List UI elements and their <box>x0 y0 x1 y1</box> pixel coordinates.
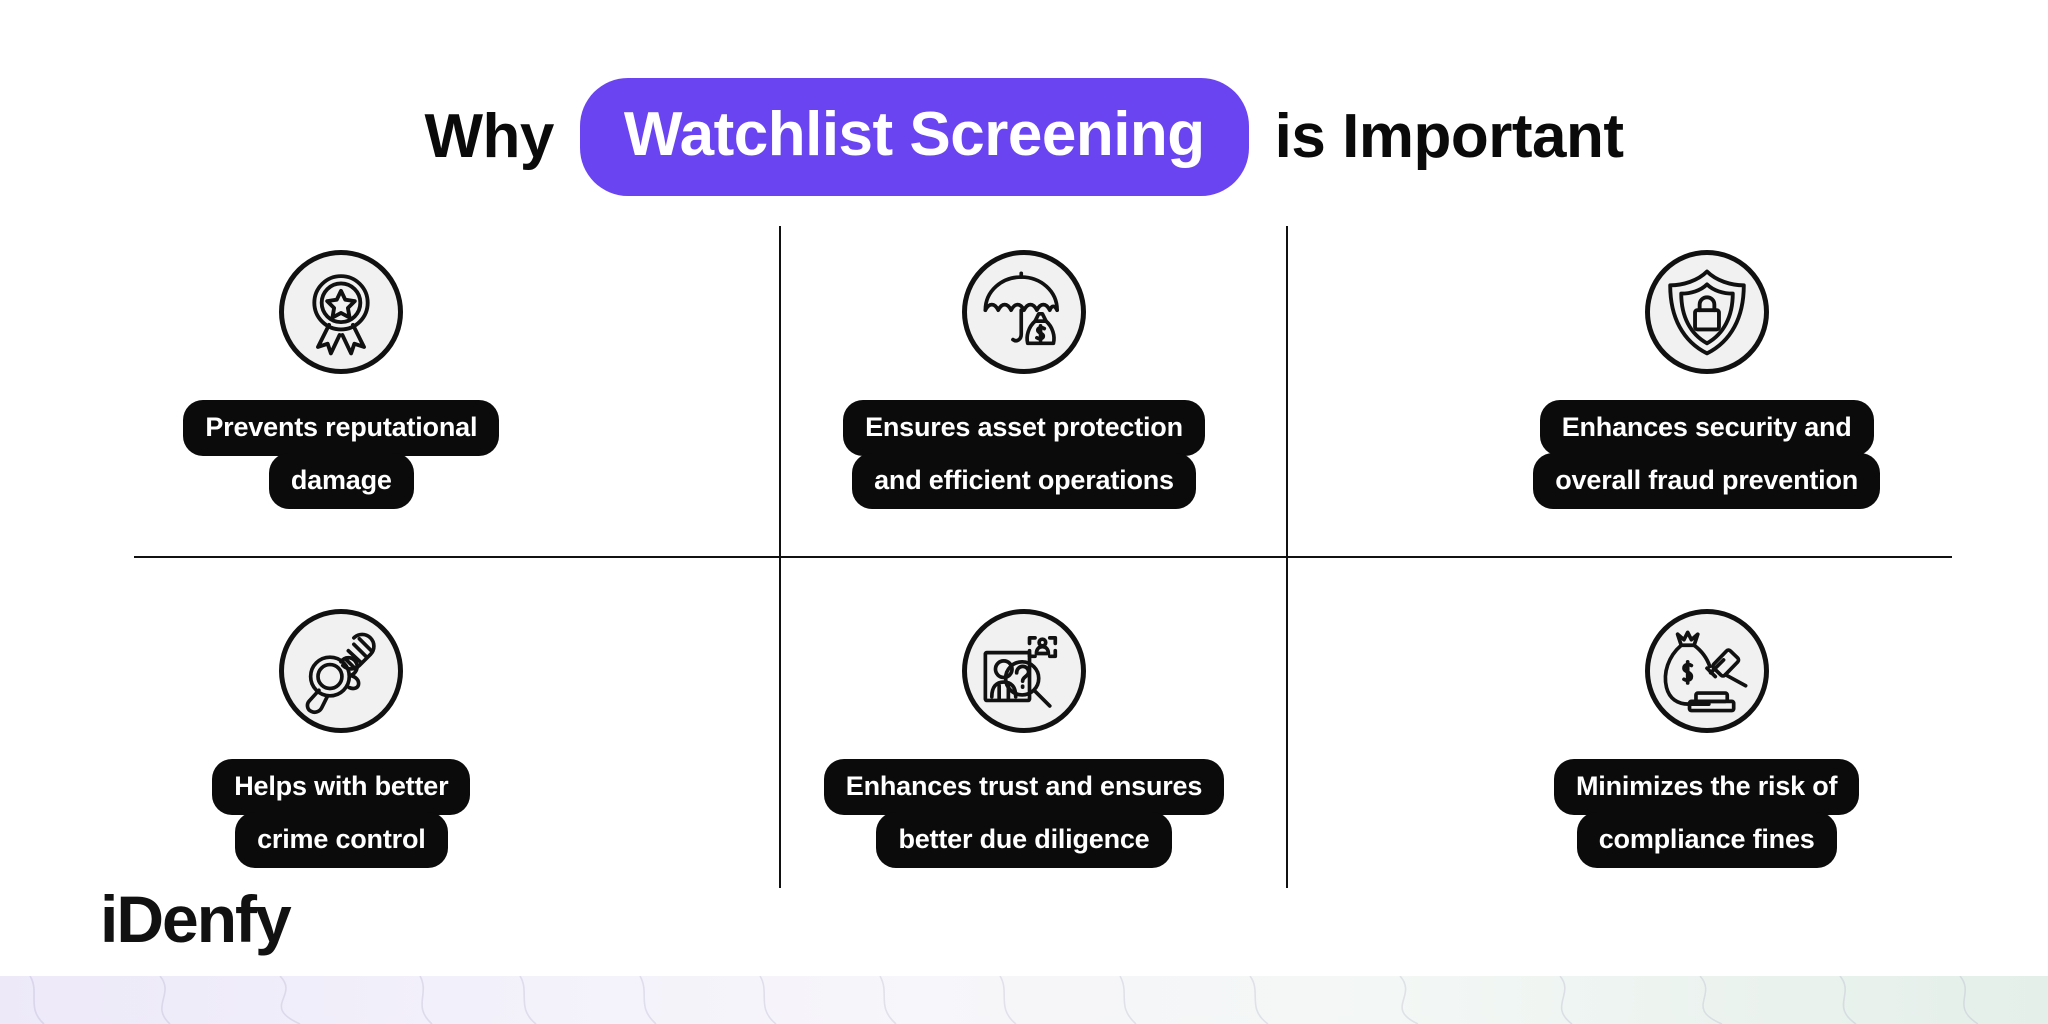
idenfy-logo: iDenfy <box>100 886 290 952</box>
benefit-label-line: and efficient operations <box>852 453 1196 509</box>
benefit-cell-4: Helps with better crime control <box>0 557 683 888</box>
benefit-label-line: Ensures asset protection <box>843 400 1205 456</box>
strip-lines <box>0 976 2048 1024</box>
benefit-cell-2: Ensures asset protection and efficient o… <box>683 226 1366 557</box>
benefit-label-line: Minimizes the risk of <box>1554 759 1859 815</box>
benefit-cell-5: Enhances trust and ensures better due di… <box>683 557 1366 888</box>
benefit-label-2: Ensures asset protection and efficient o… <box>843 400 1205 509</box>
shield-lock-icon <box>1645 250 1769 374</box>
title-highlight-pill: Watchlist Screening <box>580 78 1249 196</box>
title-prefix: Why <box>425 106 580 168</box>
benefit-label-3: Enhances security and overall fraud prev… <box>1533 400 1880 509</box>
bottom-gradient-strip <box>0 976 2048 1024</box>
benefit-label-line: overall fraud prevention <box>1533 453 1880 509</box>
benefit-label-line: crime control <box>235 812 447 868</box>
benefit-label-line: Enhances trust and ensures <box>824 759 1224 815</box>
benefit-label-line: compliance fines <box>1577 812 1837 868</box>
benefit-label-line: Enhances security and <box>1540 400 1874 456</box>
umbrella-money-bag-icon <box>962 250 1086 374</box>
benefit-label-line: Helps with better <box>212 759 470 815</box>
benefit-label-line: Prevents reputational <box>183 400 499 456</box>
page-title: Why Watchlist Screening is Important <box>0 78 2048 196</box>
benefit-label-line: better due diligence <box>876 812 1171 868</box>
benefit-cell-3: Enhances security and overall fraud prev… <box>1365 226 2048 557</box>
benefit-label-5: Enhances trust and ensures better due di… <box>824 759 1224 868</box>
benefit-label-4: Helps with better crime control <box>212 759 470 868</box>
person-magnifier-question-icon <box>962 609 1086 733</box>
title-suffix: is Important <box>1249 106 1624 168</box>
money-bag-gavel-icon <box>1645 609 1769 733</box>
benefit-cell-1: Prevents reputational damage <box>0 226 683 557</box>
benefit-label-6: Minimizes the risk of compliance fines <box>1554 759 1859 868</box>
benefit-label-1: Prevents reputational damage <box>183 400 499 509</box>
benefit-cell-6: Minimizes the risk of compliance fines <box>1365 557 2048 888</box>
benefits-grid: Prevents reputational damage Ensures ass… <box>0 226 2048 888</box>
handcuffs-icon <box>279 609 403 733</box>
award-medal-star-icon <box>279 250 403 374</box>
benefit-label-line: damage <box>269 453 414 509</box>
